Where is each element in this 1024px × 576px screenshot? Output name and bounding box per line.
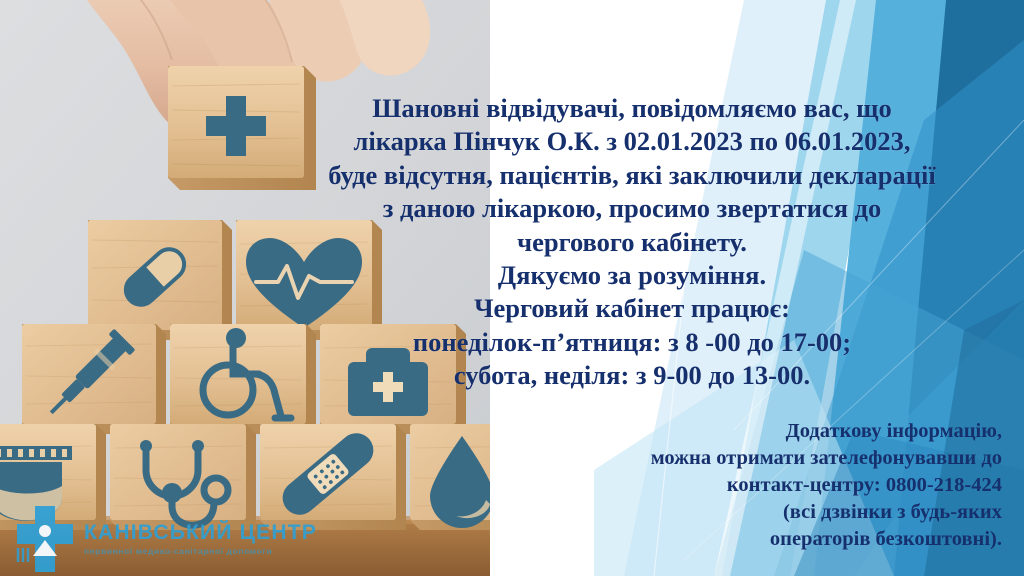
- announcement-line: Дякуємо за розуміння.: [262, 259, 1002, 292]
- contact-line: можна отримати зателефонувавши до: [532, 445, 1002, 472]
- announcement-line: буде відсутня, пацієнтів, які заключили …: [262, 159, 1002, 192]
- announcement-line: лікарка Пінчук О.К. з 02.01.2023 по 06.0…: [262, 125, 1002, 158]
- contact-line: (всі дзвінки з будь-яких: [532, 499, 1002, 526]
- content-layer: Шановні відвідувачі, повідомляємо вас, щ…: [0, 0, 1024, 576]
- schedule-line-weekend: субота, неділя: з 9-00 до 13-00.: [262, 359, 1002, 392]
- announcement-text: Шановні відвідувачі, повідомляємо вас, щ…: [262, 92, 1002, 392]
- announcement-line: чергового кабінету.: [262, 226, 1002, 259]
- contact-phone-line: контакт-центру: 0800-218-424: [532, 472, 1002, 499]
- contact-line: операторів безкоштовні).: [532, 526, 1002, 553]
- announcement-line: з даною лікаркою, просимо звертатися до: [262, 192, 1002, 225]
- announcement-line: Шановні відвідувачі, повідомляємо вас, щ…: [262, 92, 1002, 125]
- announcement-slide: КАНІВСЬКИЙ ЦЕНТР первинної медико-саніта…: [0, 0, 1024, 576]
- announcement-line: Черговий кабінет працює:: [262, 292, 1002, 325]
- contact-line: Додаткову інформацію,: [532, 418, 1002, 445]
- schedule-line-weekdays: понеділок-п’ятниця: з 8 -00 до 17-00;: [262, 326, 1002, 359]
- contact-info: Додаткову інформацію, можна отримати зат…: [532, 418, 1002, 553]
